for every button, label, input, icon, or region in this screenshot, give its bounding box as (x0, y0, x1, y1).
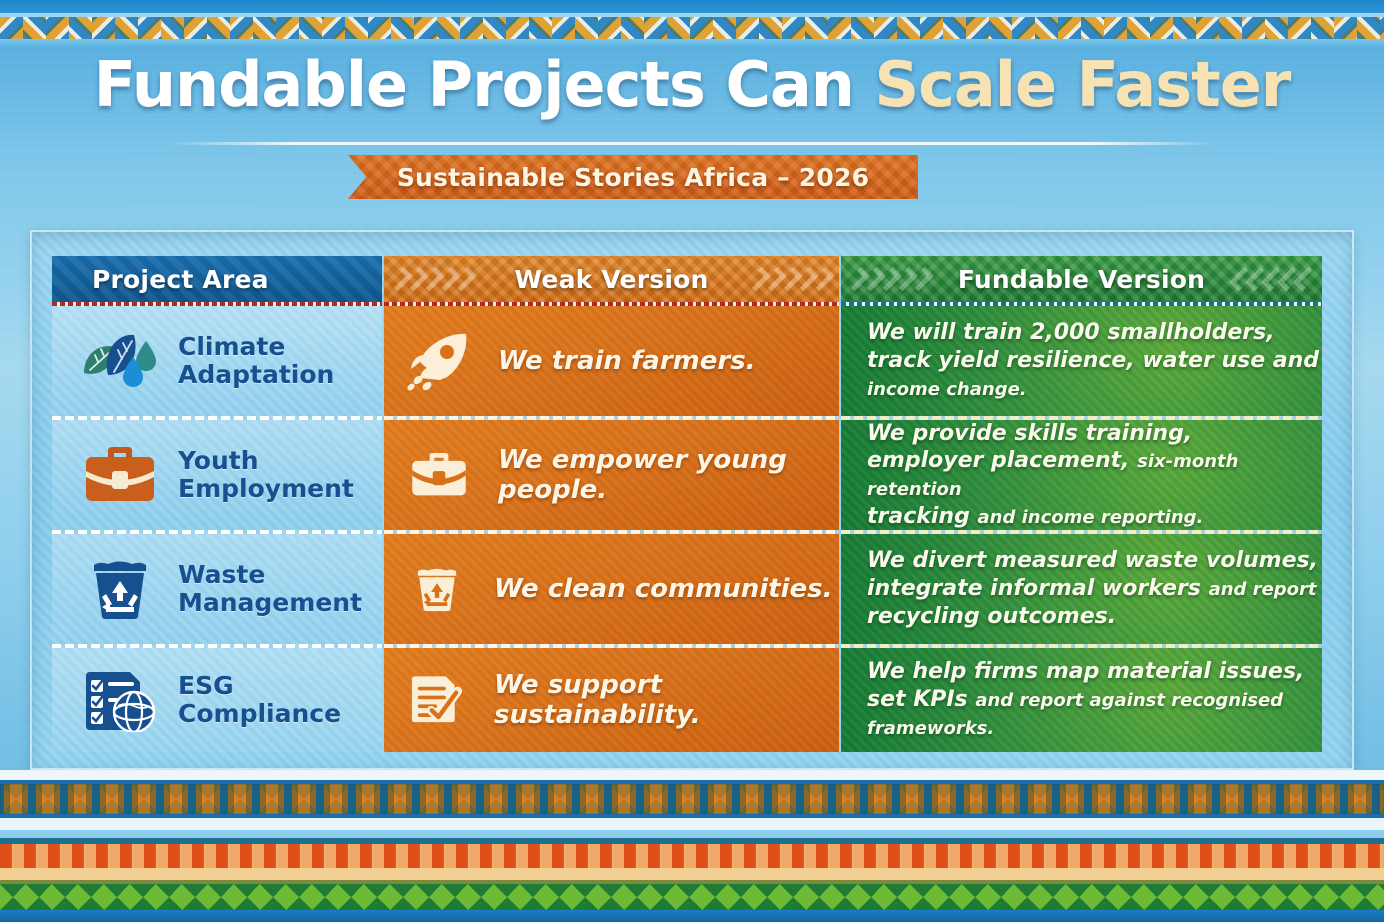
area-label-4-line2: Compliance (178, 700, 341, 729)
briefcase-icon (406, 444, 472, 506)
fundable-text-1-line1: We will train 2,000 smallholders, (867, 319, 1322, 347)
bottom-decorative-border (0, 770, 1384, 922)
title-primary: Fundable Projects Can (94, 48, 875, 121)
fundable-text-2: We provide skills training, employer pla… (867, 420, 1322, 530)
chevron-left-group-green (851, 256, 928, 302)
top-border-solid-band (0, 0, 1384, 13)
fundable-text-2-line1: We provide skills training, (867, 420, 1322, 447)
fundable-text-3-line3: recycling outcomes. (867, 603, 1318, 631)
infographic-poster: Fundable Projects Can Scale Faster Susta… (0, 0, 1384, 922)
top-decorative-border (0, 0, 1384, 46)
rocket-icon (406, 330, 472, 392)
fundable-text-2-line3: tracking and income reporting. (867, 503, 1322, 530)
area-label-2: Youth Employment (178, 447, 354, 504)
fundable-text-1: We will train 2,000 smallholders, track … (867, 319, 1322, 402)
table-header-fundable-version: Fundable Version (841, 256, 1322, 302)
leaf-water-drop-icon (78, 329, 162, 393)
area-label-2-line2: Employment (178, 475, 354, 504)
fundable-text-4-line1: We help firms map material issues, (867, 658, 1322, 686)
table-row: We divert measured waste volumes, integr… (841, 534, 1322, 644)
page-title: Fundable Projects Can Scale Faster (0, 52, 1384, 117)
header-label-project-area: Project Area (92, 265, 269, 294)
fundable-text-4-line2: set KPIs and report against recognised f… (867, 686, 1322, 741)
subtitle-text: Sustainable Stories Africa – 2026 (397, 163, 869, 192)
recycle-bin-icon (78, 557, 162, 621)
fundable-text-2-line2: employer placement, six-month retention (867, 447, 1322, 502)
fundable-text-4-line2a: set KPIs (867, 687, 975, 712)
table-row: Youth Employment (52, 420, 382, 530)
bottom-blue-band-final (0, 910, 1384, 922)
bottom-green-diamond-band (0, 884, 1384, 910)
top-border-base-band (0, 39, 1384, 46)
fundable-text-3: We divert measured waste volumes, integr… (867, 547, 1318, 630)
area-label-1-line1: Climate (178, 333, 334, 362)
briefcase-icon (78, 443, 162, 507)
area-label-3-line1: Waste (178, 561, 362, 590)
top-border-zigzag-right (0, 17, 1384, 39)
table-row: We clean communities. (384, 534, 839, 644)
comparison-table: Project Area Weak Version (52, 256, 1322, 752)
area-label-4-line1: ESG (178, 672, 341, 701)
table-row: We provide skills training, employer pla… (841, 420, 1322, 530)
chevron-right-group-orange (752, 256, 829, 302)
table-row: We help firms map material issues, set K… (841, 648, 1322, 752)
table-row: ESG Compliance (52, 648, 382, 752)
table-row: Waste Management (52, 534, 382, 644)
bottom-lightblue-band (0, 830, 1384, 838)
table-header-project-area: Project Area (52, 256, 382, 302)
fundable-text-2-line3b: and income reporting. (978, 507, 1204, 528)
area-label-1: Climate Adaptation (178, 333, 334, 390)
fundable-text-3-line2b: and report (1209, 579, 1317, 600)
fundable-text-4: We help firms map material issues, set K… (867, 658, 1322, 741)
bottom-cream-band (0, 868, 1384, 880)
fundable-text-3-line2a: integrate informal workers (867, 576, 1209, 601)
fundable-text-1-line2: track yield resilience, water use and in… (867, 347, 1322, 402)
area-label-3: Waste Management (178, 561, 362, 618)
header-label-weak-version: Weak Version (515, 265, 709, 294)
recycle-bin-icon (406, 558, 468, 620)
fundable-text-3-line2: integrate informal workers and report (867, 575, 1318, 603)
area-label-2-line1: Youth (178, 447, 354, 476)
fundable-text-1-line2a: track yield resilience, water use and (867, 348, 1319, 373)
weak-text-1: We train farmers. (498, 346, 756, 376)
area-label-3-line2: Management (178, 589, 362, 618)
weak-text-2: We empower young people. (498, 445, 839, 505)
table-row: Climate Adaptation (52, 306, 382, 416)
chevron-right-group-green (1235, 256, 1312, 302)
subtitle-ribbon-inner: Sustainable Stories Africa – 2026 (348, 155, 918, 199)
fundable-text-3-line1: We divert measured waste volumes, (867, 547, 1318, 575)
area-label-1-line2: Adaptation (178, 361, 334, 390)
table-row: We will train 2,000 smallholders, track … (841, 306, 1322, 416)
weak-text-3: We clean communities. (494, 574, 832, 604)
title-accent: Scale Faster (875, 48, 1291, 121)
fundable-text-2-line2a: employer placement, (867, 448, 1137, 473)
bottom-white-band-1 (0, 770, 1384, 780)
chevron-left-group-orange (394, 256, 471, 302)
fundable-text-2-line3a: tracking (867, 504, 978, 529)
bottom-white-band-2 (0, 818, 1384, 830)
area-label-4: ESG Compliance (178, 672, 341, 729)
table-header-weak-version: Weak Version (384, 256, 839, 302)
checklist-globe-icon (78, 668, 162, 732)
header-label-fundable-version: Fundable Version (958, 265, 1205, 294)
checklist-check-icon (406, 669, 468, 731)
subtitle-ribbon: Sustainable Stories Africa – 2026 (348, 155, 918, 199)
title-block: Fundable Projects Can Scale Faster (0, 52, 1384, 117)
fundable-text-1-line2b: income change. (867, 379, 1027, 400)
bottom-orange-diamond-band (0, 784, 1384, 814)
weak-text-4: We support sustainability. (494, 670, 839, 730)
table-row: We empower young people. (384, 420, 839, 530)
table-row: We train farmers. (384, 306, 839, 416)
table-row: We support sustainability. (384, 648, 839, 752)
title-divider (166, 142, 1218, 145)
bottom-orange-triangle-band (0, 844, 1384, 868)
